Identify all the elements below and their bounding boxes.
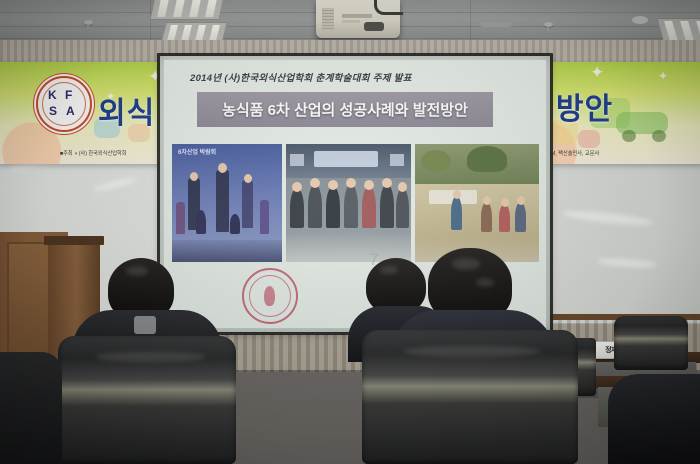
emblem-letter-a: A <box>66 105 75 117</box>
poster-left-credit: ■주최 ◑ (사) 한국외식산업학회 <box>60 150 127 157</box>
poster-left-headline: 외식 <box>98 88 155 132</box>
conference-photo: ✦ ✦ K F S A 외식 ■주최 ◑ (사) 한국외식산업학회 ✦ ✦ 와 … <box>0 0 700 464</box>
emblem-letter-f: F <box>65 89 72 101</box>
projector-lens <box>364 22 384 31</box>
ceiling-vent <box>480 22 512 27</box>
kfsa-emblem: K F S A <box>36 76 92 132</box>
sprinkler-head <box>544 22 553 27</box>
audience-member-far-right <box>608 344 700 464</box>
sprinkler-head <box>84 20 93 25</box>
ceiling-light-panel <box>149 0 224 20</box>
shoulders <box>608 374 700 464</box>
ceiling <box>0 0 700 42</box>
emblem-letter-k: K <box>48 89 57 101</box>
emblem-letter-s: S <box>49 105 57 117</box>
foreground-shadow-left <box>0 352 62 464</box>
smoke-detector <box>632 16 648 24</box>
projector-cable <box>374 0 403 15</box>
ceiling-projector <box>316 0 400 38</box>
